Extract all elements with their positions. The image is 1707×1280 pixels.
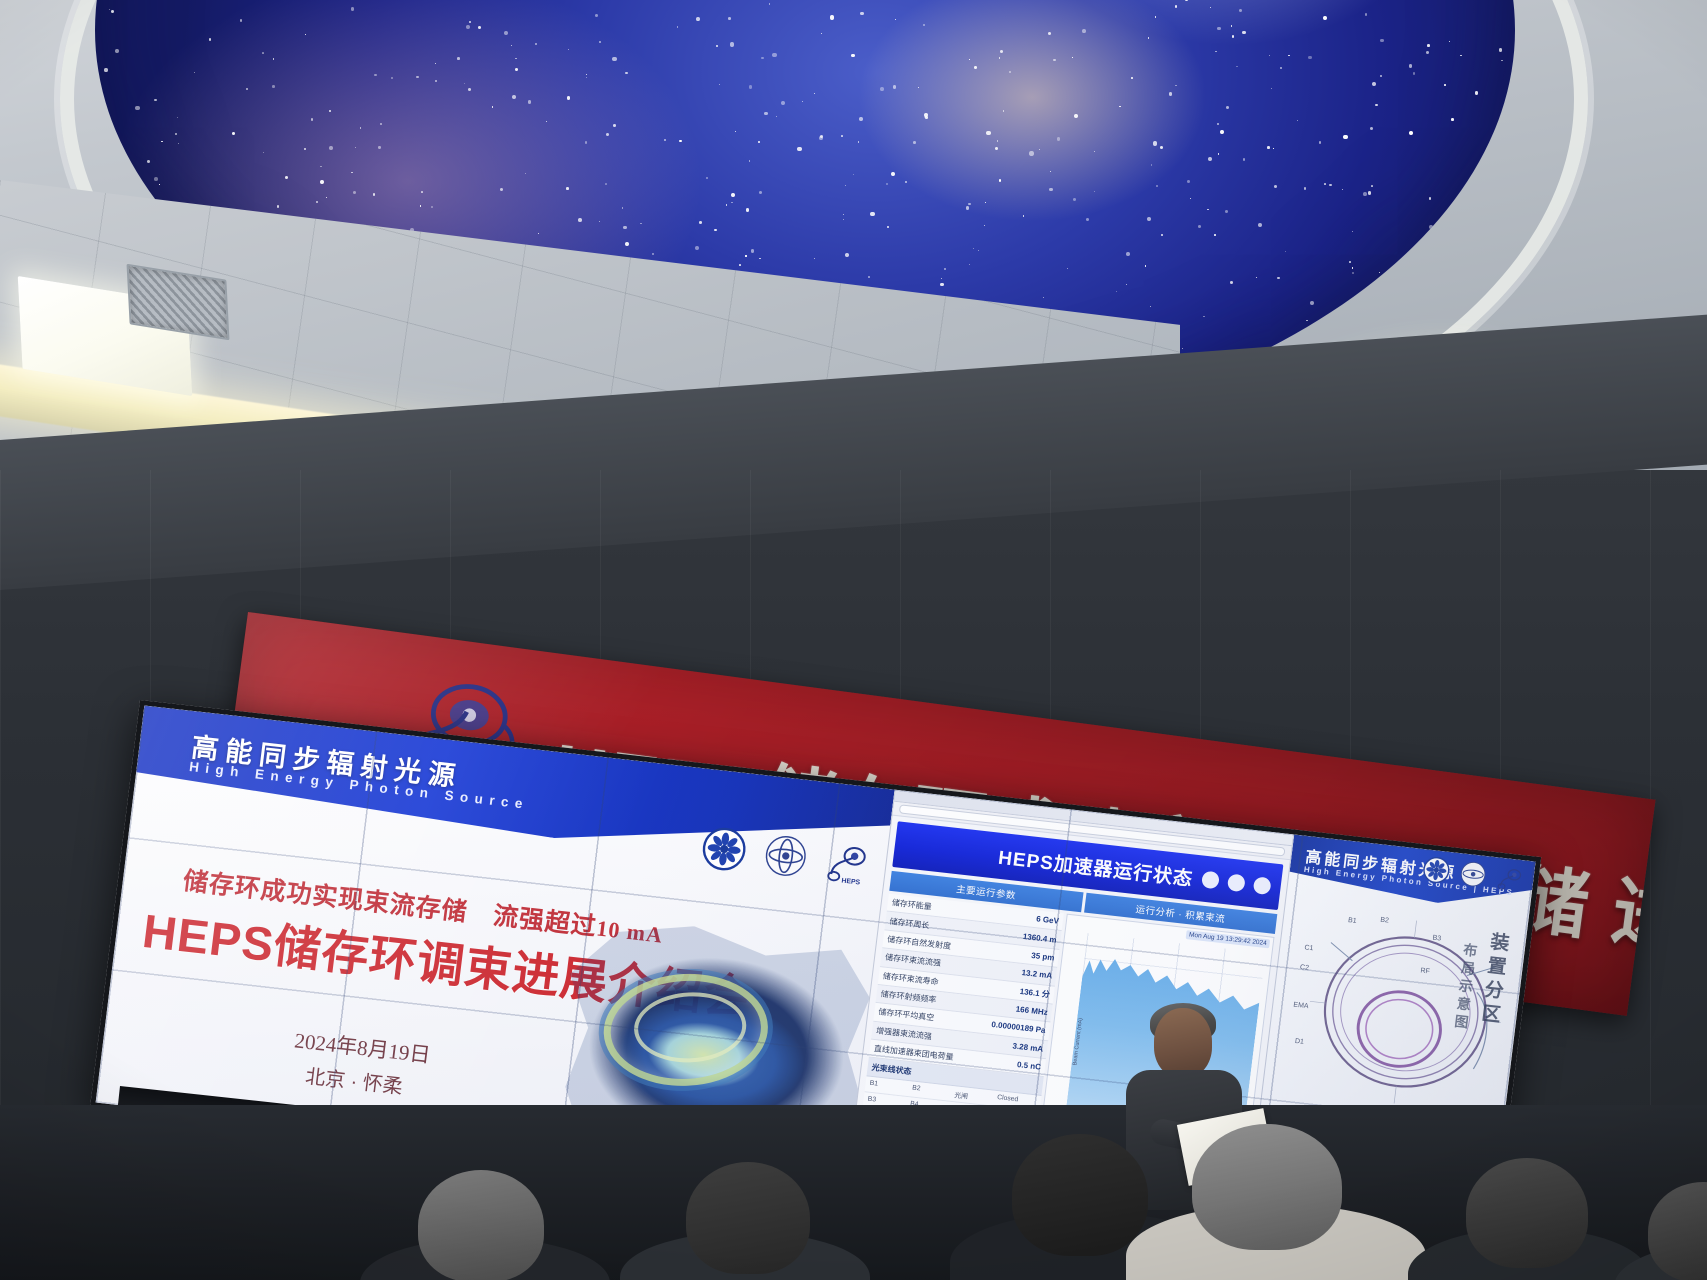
param-key: 储存环周长: [889, 916, 930, 931]
zone-label-1: B2: [1380, 917, 1389, 925]
param-key: 增强器束流流强: [876, 1025, 933, 1042]
ihep-logo-icon-right: [1458, 859, 1488, 889]
status-cell: 光闸: [954, 1089, 995, 1103]
audience-5-head: [1466, 1158, 1588, 1268]
zone-label-2: B3: [1432, 935, 1441, 943]
audience-1-head: [418, 1170, 544, 1280]
status-cell: B1: [869, 1080, 910, 1094]
status-cell: B2: [911, 1084, 952, 1098]
param-value: 166 MHz: [1015, 1005, 1048, 1018]
zone-label-3: C1: [1304, 944, 1314, 952]
zone-label-0: B1: [1348, 917, 1357, 925]
param-value: 6 GeV: [1036, 914, 1060, 925]
param-key: 储存环束流寿命: [882, 970, 939, 987]
wave-icon[interactable]: [1227, 873, 1246, 892]
param-key: 储存环能量: [891, 897, 932, 912]
param-value: 35 pm: [1031, 951, 1055, 963]
zone-label-4: C2: [1300, 964, 1310, 972]
ihep-logo-icon: [761, 832, 810, 881]
audience-4-head: [1192, 1124, 1342, 1250]
heps-logo-icon-right: [1495, 863, 1525, 893]
zone-label-6: D1: [1295, 1038, 1305, 1046]
param-value: 136.1 分: [1019, 986, 1050, 1000]
audience-2-head: [686, 1162, 810, 1274]
param-key: 储存环平均真空: [878, 1007, 935, 1024]
beam-icon[interactable]: [1253, 876, 1272, 895]
param-value: 3.28 mA: [1012, 1041, 1044, 1053]
param-key: 储存环束流流强: [884, 952, 941, 969]
cas-logo-icon-right: [1421, 855, 1451, 885]
zone-label-7: RF: [1420, 967, 1430, 975]
param-value: 13.2 mA: [1021, 968, 1053, 980]
param-key: 储存环射频频率: [880, 988, 937, 1005]
param-value: 1360.4 m: [1022, 931, 1057, 944]
dashboard-title: HEPS加速器运行状态: [997, 842, 1195, 891]
param-value: 0.00000189 Pa: [991, 1020, 1046, 1035]
svg-text:HEPS: HEPS: [841, 878, 861, 887]
param-value: 0.5 nC: [1016, 1060, 1041, 1072]
cas-logo-icon: [700, 825, 749, 874]
photo-scene: HEPS HEPS储存环成功实现束流存储 进入调束快行道 高能同步辐射光源 Hi…: [0, 0, 1707, 1280]
audience-3-head: [1012, 1134, 1148, 1256]
slide-place: 北京 · 怀柔: [304, 1060, 405, 1100]
slide-logo-row: HEPS: [700, 825, 872, 887]
zone-label-5: EMA: [1293, 1001, 1309, 1010]
gear-icon[interactable]: [1201, 870, 1220, 889]
speaker-head: [1154, 1008, 1212, 1078]
heps-logo-icon-slide: HEPS: [823, 839, 872, 888]
